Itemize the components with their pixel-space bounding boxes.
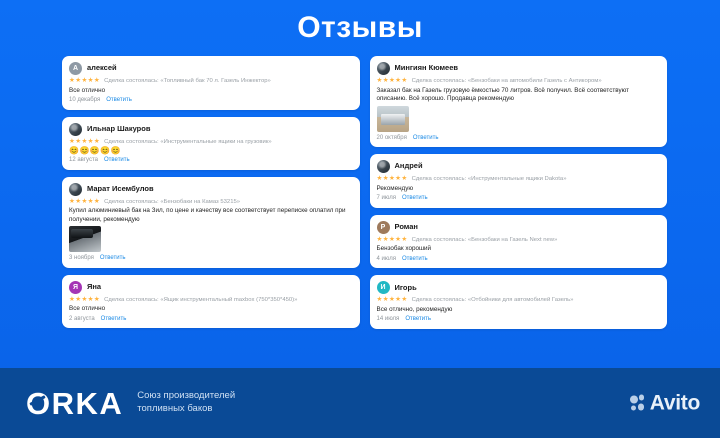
star-rating: ★★★★★ — [69, 78, 100, 85]
review-text: Заказал бак на Газель грузовую ёмкостью … — [377, 87, 660, 104]
review-text: Купил алюминиевый бак на Зил, по цене и … — [69, 207, 352, 224]
review-header: Ильнар Шакуров — [69, 123, 352, 136]
review-footer: 2 августаОтветить — [69, 316, 352, 323]
review-date: 2 августа — [69, 316, 95, 323]
orka-logo: ORKA — [26, 388, 123, 419]
review-footer: 12 августаОтветить — [69, 157, 352, 164]
review-author: Роман — [395, 223, 418, 231]
review-text: Все отлично — [69, 87, 352, 96]
star-rating: ★★★★★ — [377, 176, 408, 183]
reply-link[interactable]: Ответить — [104, 157, 130, 164]
avatar: Я — [69, 281, 82, 294]
star-rating: ★★★★★ — [69, 297, 100, 304]
review-meta: ★★★★★Сделка состоялась: «Инструментальны… — [69, 139, 352, 146]
avito-logo: Avito — [630, 393, 700, 414]
reply-link[interactable]: Ответить — [405, 316, 431, 323]
review-footer: 10 декабряОтветить — [69, 97, 352, 104]
review-card[interactable]: Ильнар Шакуров★★★★★Сделка состоялась: «И… — [62, 117, 360, 170]
deal-status: Сделка состоялась: «Бензобаки на автомоб… — [412, 78, 602, 84]
reply-link[interactable]: Ответить — [402, 195, 428, 202]
review-card[interactable]: Марат Исембулов★★★★★Сделка состоялась: «… — [62, 177, 360, 268]
review-header: ИИгорь — [377, 281, 660, 294]
reply-link[interactable]: Ответить — [101, 316, 127, 323]
review-photo-thumbnail[interactable] — [69, 226, 101, 252]
star-rating: ★★★★★ — [377, 78, 408, 85]
reviews-columns: Аалексей★★★★★Сделка состоялась: «Топливн… — [0, 56, 720, 368]
reply-link[interactable]: Ответить — [413, 135, 439, 142]
review-meta: ★★★★★Сделка состоялась: «Отбойники для а… — [377, 297, 660, 304]
deal-status: Сделка состоялась: «Отбойники для автомо… — [412, 297, 574, 303]
review-footer: 14 июляОтветить — [377, 316, 660, 323]
review-header: Андрей — [377, 160, 660, 173]
review-header: Аалексей — [69, 62, 352, 75]
review-footer: 3 ноябряОтветить — [69, 255, 352, 262]
deal-status: Сделка состоялась: «Топливный бак 70 л. … — [104, 78, 271, 84]
deal-prefix: Сделка состоялась: — [412, 237, 467, 243]
avatar — [69, 123, 82, 136]
review-header: РРоман — [377, 221, 660, 234]
review-author: Яна — [87, 283, 101, 291]
orka-logo-text: ORKA — [26, 386, 123, 421]
deal-product: «Топливный бак 70 л. Газель Инжектор» — [160, 78, 271, 84]
review-meta: ★★★★★Сделка состоялась: «Бензобаки на ав… — [377, 78, 660, 85]
deal-prefix: Сделка состоялась: — [104, 139, 159, 145]
review-date: 10 декабря — [69, 97, 100, 104]
review-author: Андрей — [395, 162, 423, 170]
review-date: 4 июля — [377, 256, 396, 263]
review-card[interactable]: ЯЯна★★★★★Сделка состоялась: «Ящик инстру… — [62, 275, 360, 329]
deal-status: Сделка состоялась: «Ящик инструментальны… — [104, 297, 297, 303]
deal-product: «Отбойники для автомобилей Газель» — [468, 297, 574, 303]
review-photo-thumbnail[interactable] — [377, 106, 409, 132]
review-card[interactable]: Мингиян Кюмеев★★★★★Сделка состоялась: «Б… — [370, 56, 668, 147]
review-card[interactable]: Андрей★★★★★Сделка состоялась: «Инструмен… — [370, 154, 668, 208]
page-title: Отзывы — [297, 13, 423, 43]
star-rating: ★★★★★ — [69, 199, 100, 206]
review-footer: 7 июляОтветить — [377, 195, 660, 202]
review-card[interactable]: РРоман★★★★★Сделка состоялась: «Бензобаки… — [370, 215, 668, 269]
brand-tagline-line2: топливных баков — [137, 403, 235, 416]
review-meta: ★★★★★Сделка состоялась: «Бензобаки на Ка… — [69, 199, 352, 206]
avatar: Р — [377, 221, 390, 234]
deal-product: «Бензобаки на Камаз 53215» — [160, 199, 240, 205]
reviews-column-left: Аалексей★★★★★Сделка состоялась: «Топливн… — [62, 56, 360, 328]
review-header: ЯЯна — [69, 281, 352, 294]
star-rating: ★★★★★ — [377, 237, 408, 244]
review-meta: ★★★★★Сделка состоялась: «Топливный бак 7… — [69, 78, 352, 85]
review-date: 14 июля — [377, 316, 400, 323]
review-footer: 20 октябряОтветить — [377, 135, 660, 142]
star-rating: ★★★★★ — [377, 297, 408, 304]
review-card[interactable]: ИИгорь★★★★★Сделка состоялась: «Отбойники… — [370, 275, 668, 329]
review-meta: ★★★★★Сделка состоялась: «Ящик инструмент… — [69, 297, 352, 304]
deal-product: «Ящик инструментальный maxbox (750*350*4… — [160, 297, 297, 303]
page-footer: ORKA Союз производителей топливных баков… — [0, 368, 720, 438]
page-header: Отзывы — [0, 0, 720, 56]
avito-dots-icon — [630, 395, 647, 412]
review-author: Марат Исембулов — [87, 185, 154, 193]
review-author: Ильнар Шакуров — [87, 125, 150, 133]
review-date: 20 октября — [377, 135, 407, 142]
review-emoji: 😊😊😊😊😊 — [69, 147, 352, 155]
deal-prefix: Сделка состоялась: — [412, 78, 467, 84]
deal-prefix: Сделка состоялась: — [104, 199, 159, 205]
review-date: 3 ноября — [69, 255, 94, 262]
reviews-column-right: Мингиян Кюмеев★★★★★Сделка состоялась: «Б… — [370, 56, 668, 329]
deal-prefix: Сделка состоялась: — [412, 176, 467, 182]
review-author: Игорь — [395, 284, 417, 292]
review-header: Мингиян Кюмеев — [377, 62, 660, 75]
deal-prefix: Сделка состоялась: — [104, 78, 159, 84]
deal-product: «Бензобаки на автомобили Газель с Антико… — [468, 78, 602, 84]
review-card[interactable]: Аалексей★★★★★Сделка состоялась: «Топливн… — [62, 56, 360, 110]
avatar: И — [377, 281, 390, 294]
deal-status: Сделка состоялась: «Инструментальные ящи… — [104, 139, 272, 145]
reviews-page: Отзывы Аалексей★★★★★Сделка состоялась: «… — [0, 0, 720, 438]
brand-tagline: Союз производителей топливных баков — [137, 390, 235, 416]
review-header: Марат Исембулов — [69, 183, 352, 196]
brand-tagline-line1: Союз производителей — [137, 390, 235, 403]
deal-status: Сделка состоялась: «Инструментальные ящи… — [412, 176, 567, 182]
avatar — [69, 183, 82, 196]
deal-prefix: Сделка состоялась: — [412, 297, 467, 303]
avito-wordmark: Avito — [650, 393, 700, 414]
review-text: Все отлично, рекомендую — [377, 306, 660, 315]
reply-link[interactable]: Ответить — [100, 255, 126, 262]
deal-prefix: Сделка состоялась: — [104, 297, 159, 303]
avatar: А — [69, 62, 82, 75]
deal-product: «Инструментальные ящики на грузовик» — [160, 139, 271, 145]
deal-status: Сделка состоялась: «Бензобаки на Камаз 5… — [104, 199, 240, 205]
review-date: 7 июля — [377, 195, 396, 202]
review-meta: ★★★★★Сделка состоялась: «Бензобаки на Га… — [377, 237, 660, 244]
review-text: Рекомендую — [377, 185, 660, 194]
reply-link[interactable]: Ответить — [106, 97, 132, 104]
deal-product: «Инструментальные ящики Dakota» — [468, 176, 567, 182]
review-text: Все отлично — [69, 305, 352, 314]
avatar — [377, 62, 390, 75]
review-author: Мингиян Кюмеев — [395, 64, 459, 72]
review-meta: ★★★★★Сделка состоялась: «Инструментальны… — [377, 176, 660, 183]
deal-status: Сделка состоялась: «Бензобаки на Газель … — [412, 237, 558, 243]
star-rating: ★★★★★ — [69, 139, 100, 146]
review-footer: 4 июляОтветить — [377, 256, 660, 263]
review-author: алексей — [87, 64, 117, 72]
avatar — [377, 160, 390, 173]
brand-block: ORKA Союз производителей топливных баков — [26, 388, 235, 419]
deal-product: «Бензобаки на Газель Next new» — [468, 237, 558, 243]
review-text: Бензобак хороший — [377, 245, 660, 254]
review-date: 12 августа — [69, 157, 98, 164]
reply-link[interactable]: Ответить — [402, 256, 428, 263]
